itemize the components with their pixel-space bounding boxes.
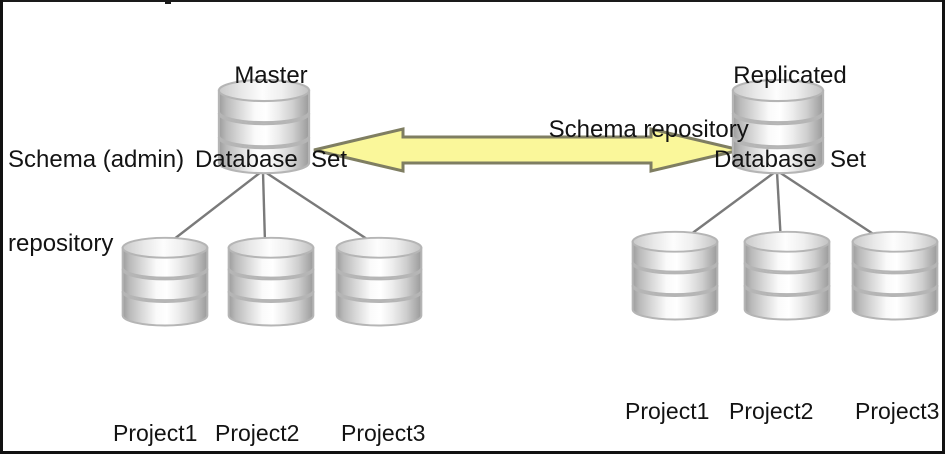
master-child-label-2: Project2 db [215, 366, 299, 454]
master-repo-label-line1: Schema (admin) [8, 146, 184, 174]
replica-child-label-1-line1: Project1 [625, 398, 709, 425]
master-child-label-1: Project1 db [113, 366, 197, 454]
replica-child-label-3: Project3 db [855, 344, 939, 454]
master-child-database-icon-3 [337, 238, 422, 326]
master-repo-label: Schema (admin) repository [8, 90, 184, 314]
master-title-line2: Database Set [181, 146, 361, 174]
diagram-canvas: Master Database Set Schema (admin) repos… [0, 0, 945, 454]
replica-child-label-2: Project2 db [729, 344, 813, 454]
master-title: Master Database Set [181, 6, 361, 230]
replica-child-label-3-line1: Project3 [855, 398, 939, 425]
master-child-label-2-line1: Project2 [215, 420, 299, 447]
replica-repo-label-text: Schema repository [549, 116, 749, 143]
replica-title-line1: Replicated [695, 62, 885, 90]
master-repo-label-line2: repository [8, 230, 184, 258]
master-child-label-3: Project3 db [341, 366, 425, 454]
master-title-line1: Master [181, 62, 361, 90]
replica-child-label-1: Project1 db [625, 344, 709, 454]
replica-child-database-icon-3 [853, 232, 938, 320]
replica-repo-label: Schema repository [522, 88, 749, 172]
master-child-label-3-line1: Project3 [341, 420, 425, 447]
master-child-database-icon-2 [229, 238, 314, 326]
master-child-label-1-line1: Project1 [113, 420, 197, 447]
replica-child-database-icon-1 [633, 232, 718, 320]
replica-child-label-2-line1: Project2 [729, 398, 813, 425]
replica-child-database-icon-2 [745, 232, 830, 320]
